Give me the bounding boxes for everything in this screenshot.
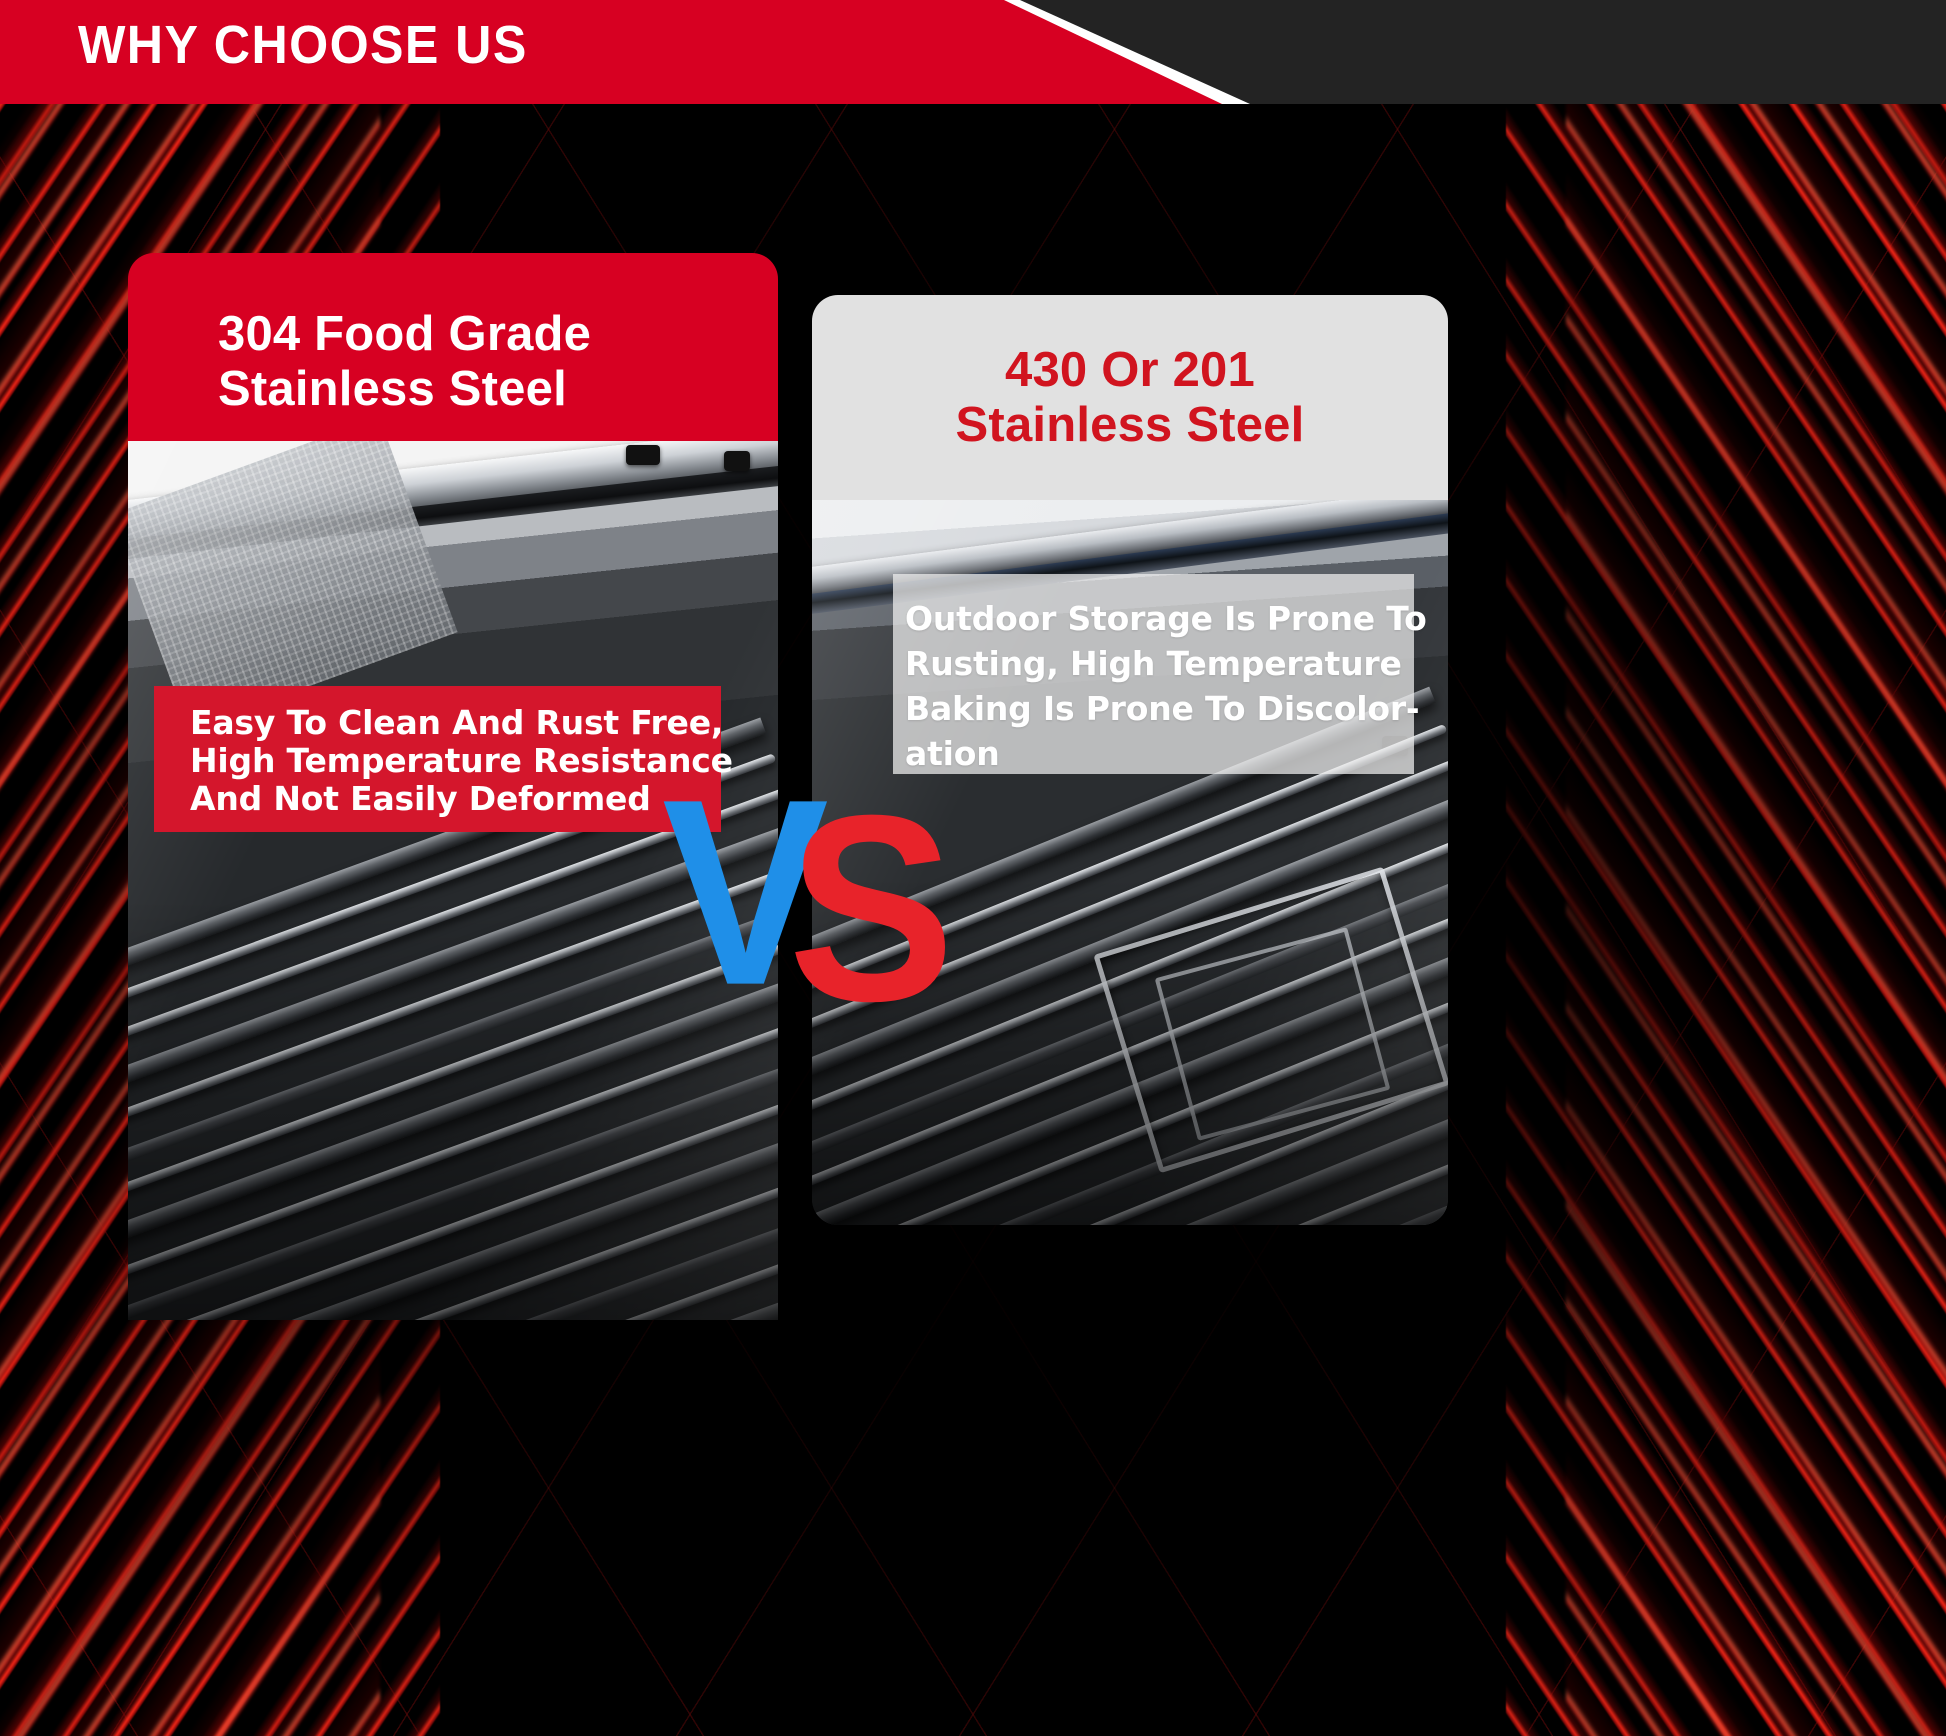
card-left-title-line2: Stainless Steel [218,362,567,416]
card-right-header: 430 Or 201 Stainless Steel [812,295,1448,500]
benefit-line-3: And Not Easily Deformed [190,780,699,818]
benefit-line-1: Easy To Clean And Rust Free, [190,704,699,742]
card-left-header: 304 Food Grade Stainless Steel [128,253,778,441]
drawback-line-2: Rusting, High Temperature [905,641,1400,686]
drawback-line-4: ation [905,731,1400,776]
infographic-canvas: WHY CHOOSE US [0,0,1946,1736]
card-right-title-line2: Stainless Steel [956,398,1305,452]
header-title: WHY CHOOSE US [78,14,528,76]
card-left-photo [128,441,778,1320]
drawback-line-3: Baking Is Prone To Discolor- [905,686,1400,731]
grill-handle-knob [724,451,750,471]
card-left-benefit-callout: Easy To Clean And Rust Free, High Temper… [154,686,721,832]
drawback-line-1: Outdoor Storage Is Prone To [905,596,1400,641]
card-right-drawback-callout: Outdoor Storage Is Prone To Rusting, Hig… [893,574,1414,774]
card-left-title: 304 Food Grade Stainless Steel [218,307,778,417]
card-left-title-line1: 304 Food Grade [218,307,591,361]
card-right-title: 430 Or 201 Stainless Steel [812,343,1448,453]
card-right-title-line1: 430 Or 201 [1005,343,1255,397]
header-banner: WHY CHOOSE US [0,0,1946,104]
benefit-line-2: High Temperature Resistance [190,742,699,780]
grill-hinge [626,445,660,465]
